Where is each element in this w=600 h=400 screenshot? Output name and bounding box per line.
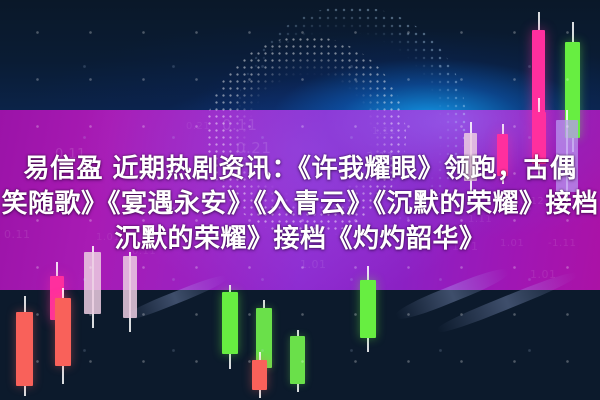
- candle-pale-mid: [464, 122, 477, 192]
- candle-body: [290, 336, 305, 384]
- candle-body: [55, 298, 71, 366]
- candle-body: [464, 133, 477, 181]
- candle-pink-mid: [532, 98, 546, 176]
- candle-body: [532, 112, 546, 164]
- candle-violet-right: [556, 110, 578, 202]
- candle-body: [556, 120, 578, 192]
- candle-body: [497, 134, 508, 176]
- halftone-globe-outer-icon: [236, 6, 466, 236]
- candle-body: [222, 292, 238, 354]
- promo-banner: 0.110.110.213.111.111.010.121.11-1.111.0…: [0, 0, 600, 400]
- candle-green-band: [360, 266, 376, 352]
- candle-red-bottom-1: [16, 296, 33, 396]
- candle-body: [252, 360, 267, 390]
- candle-green-bottom-1: [222, 285, 238, 369]
- candle-pale-tall-left: [84, 246, 101, 328]
- candle-body: [123, 256, 137, 318]
- candle-body: [16, 312, 33, 386]
- candle-body: [84, 252, 101, 314]
- candle-pale-band: [123, 252, 137, 332]
- candle-green-bottom-3: [290, 330, 305, 392]
- candle-red-bottom-2: [55, 288, 71, 384]
- candle-pink-small: [497, 124, 508, 184]
- candle-red-bottom-3: [252, 352, 267, 398]
- candle-body: [360, 280, 376, 338]
